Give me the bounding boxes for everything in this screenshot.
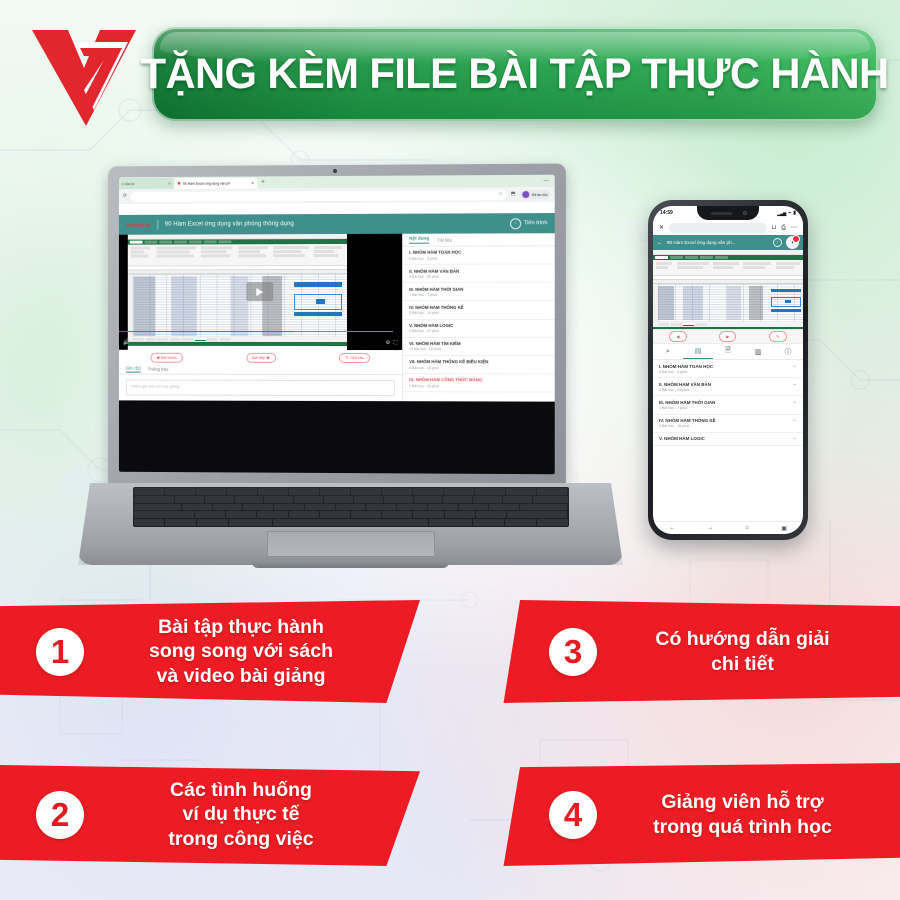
laptop-lid: n của tôi ✕ 90 Hàm Excel ứng dụng văn ph…: [108, 164, 566, 489]
chevron-down-icon[interactable]: ⌄: [792, 382, 797, 388]
content-tab[interactable]: ▤: [683, 344, 713, 359]
phone-app-bar: ← 90 Hàm Excel ứng dụng văn ph... ↑ ◗: [653, 235, 803, 250]
chevron-down-icon[interactable]: ⌄: [792, 400, 797, 406]
prev-icon: ◀: [156, 355, 159, 360]
section-title: III. NHÓM HÀM THỜI GIAN: [659, 400, 792, 405]
excel-ribbon: [128, 244, 347, 267]
section-meta: 8 Bài học - 25 phút: [409, 274, 548, 278]
menu-icon[interactable]: ⋯: [791, 225, 797, 231]
divider: [157, 220, 158, 230]
window-controls[interactable]: —: [544, 176, 555, 187]
list-item[interactable]: V. NHÓM HÀM LOGIC ⌄: [653, 433, 803, 447]
chevron-down-icon[interactable]: ⌄: [792, 418, 797, 424]
phone-mockup: 14:59 ▂▄▆ ⌁ ▮ ✕ ⊔ ⎙ ⋯ ← 90 Hàm Ex: [648, 200, 808, 540]
section-meta: 5 Bài học - 15 phút: [659, 424, 792, 428]
library-tab[interactable]: ▥: [743, 344, 773, 359]
avatar: [523, 191, 530, 198]
phone-screen: 14:59 ▂▄▆ ⌁ ▮ ✕ ⊔ ⎙ ⋯ ← 90 Hàm Ex: [653, 206, 803, 534]
phone-notch: [697, 206, 759, 220]
feature-card-3[interactable]: 3 Có hướng dẫn giải chi tiết: [487, 600, 900, 703]
keyboard: [133, 487, 569, 527]
section-meta: 1 Bài học - 7 phút: [409, 293, 548, 297]
prev-lesson-button[interactable]: ◀: [669, 331, 686, 342]
section-meta: 8 Bài học - 25 phút: [659, 388, 792, 392]
next-icon: ▶: [267, 355, 270, 360]
laptop-mockup: n của tôi ✕ 90 Hàm Excel ứng dụng văn ph…: [78, 165, 623, 590]
note-button[interactable]: ✎: [769, 331, 787, 342]
prev-lesson-button[interactable]: ◀ Bài trước: [150, 352, 183, 362]
list-item[interactable]: II. NHÓM HÀM VĂN BẢN 8 Bài học - 25 phút: [403, 265, 555, 284]
phone-section-list: I. NHÓM HÀM TOÁN HỌC 6 Bài học - 4 phút …: [653, 360, 803, 521]
app-header: TINHOCDAN 90 Hàm Excel ứng dụng văn phòn…: [119, 213, 555, 235]
nav-tabs-icon[interactable]: ▣: [781, 525, 787, 532]
title-banner: TẶNG KÈM FILE BÀI TẬP THỰC HÀNH: [152, 27, 878, 121]
card-text: Có hướng dẫn giải chi tiết: [597, 627, 900, 676]
note-label: Ghi chú: [350, 355, 364, 360]
favicon-icon: [177, 181, 181, 185]
play-icon: [256, 288, 263, 296]
section-title: V. NHÓM HÀM LOGIC: [409, 323, 548, 328]
close-icon[interactable]: ✕: [251, 180, 254, 185]
search-tab[interactable]: ⌕: [653, 344, 683, 359]
progress-control[interactable]: ↑ Tiến trình: [510, 218, 548, 229]
phone-browser-bar: ✕ ⊔ ⎙ ⋯: [653, 220, 803, 235]
document-tab[interactable]: 🗎: [713, 344, 743, 359]
tab-label: n của tôi: [122, 182, 135, 186]
video-progress-bar[interactable]: [119, 331, 294, 332]
card-number-badge: 2: [36, 791, 84, 839]
new-tab-button[interactable]: +: [257, 177, 268, 188]
lesson-pane: 🔊 ⚙ ⛶ ◀ Bài trước Bài tiếp ▶: [119, 234, 402, 401]
list-item[interactable]: III. NHÓM HÀM THỜI GIAN 1 Bài học - 7 ph…: [653, 396, 803, 414]
list-item[interactable]: I. NHÓM HÀM TOÁN HỌC 6 Bài học - 4 phút: [403, 246, 555, 265]
note-area: Thêm ghi chú cho bài giảng: [119, 375, 402, 402]
excel-screenshot: [128, 234, 347, 350]
tab-tai-lieu[interactable]: Tài liệu: [437, 237, 452, 242]
next-lesson-button[interactable]: Bài tiếp ▶: [246, 353, 276, 363]
progress-label: Tiến trình: [524, 220, 548, 226]
profile-label: Đã tạo dấu: [532, 192, 548, 196]
wifi-icon: ⌁: [788, 210, 791, 216]
info-tab[interactable]: ⓘ: [773, 344, 803, 359]
tab-label: 90 Hàm Excel ứng dụng văn ph: [183, 181, 230, 185]
card-number-badge: 3: [549, 628, 597, 676]
webcam-icon: [333, 169, 337, 173]
status-time: 14:59: [660, 210, 673, 216]
section-meta: 1 Bài học - 7 phút: [659, 406, 792, 410]
video-progress-remaining[interactable]: [294, 331, 394, 332]
card-text: Bài tập thực hành song song với sách và …: [84, 615, 420, 689]
phone-video-player[interactable]: [653, 250, 803, 330]
trackpad[interactable]: [267, 531, 435, 557]
section-meta: 2 Bài học - 15 phút: [409, 384, 548, 388]
settings-fullscreen-icon[interactable]: ⚙ ⛶: [386, 340, 398, 346]
volume-icon[interactable]: 🔊: [123, 339, 130, 346]
phone-lesson-buttons: ◀ ▶ ✎: [653, 330, 803, 344]
reload-icon[interactable]: ⟳: [123, 194, 127, 199]
list-item[interactable]: III. NHÓM HÀM THỜI GIAN 1 Bài học - 7 ph…: [403, 283, 555, 301]
browser-tab-strip: n của tôi ✕ 90 Hàm Excel ứng dụng văn ph…: [119, 175, 555, 189]
prev-label: Bài trước: [161, 355, 177, 360]
card-number-badge: 1: [36, 628, 84, 676]
note-button[interactable]: ✎ Ghi chú: [339, 353, 370, 363]
excel-status-bar: [128, 342, 347, 346]
list-item[interactable]: V. NHÓM HÀM LOGIC 6 Bài học - 27 phút: [403, 320, 555, 338]
lesson-button-bar: ◀ Bài trước Bài tiếp ▶ ✎ Ghi chú: [119, 350, 402, 366]
phone-address-bar[interactable]: [669, 223, 766, 233]
section-title: II. NHÓM HÀM VĂN BẢN: [409, 268, 548, 274]
course-title: 90 Hàm Excel ứng dụng văn phòng thông dụ…: [165, 221, 294, 227]
list-item[interactable]: IV. NHÓM HÀM THỐNG KÊ 5 Bài học - 19 phú…: [403, 301, 555, 319]
course-section-list: I. NHÓM HÀM TOÁN HỌC 6 Bài học - 4 phút …: [403, 246, 555, 401]
feature-card-2[interactable]: 2 Các tình huống ví dụ thực tế trong côn…: [0, 763, 420, 866]
devices-section: n của tôi ✕ 90 Hàm Excel ứng dụng văn ph…: [0, 140, 900, 590]
laptop-screen: n của tôi ✕ 90 Hàm Excel ứng dụng văn ph…: [119, 175, 555, 475]
excel-grid: [128, 270, 347, 346]
section-meta: 5 Bài học - 19 phút: [409, 311, 548, 315]
tab-ghi-chu[interactable]: Ghi chú: [126, 366, 141, 373]
section-title: I. NHÓM HÀM TOÁN HỌC: [409, 250, 548, 256]
card-number-badge: 4: [549, 791, 597, 839]
next-label: Bài tiếp: [252, 355, 265, 360]
signal-icon: ▂▄▆: [777, 211, 786, 216]
list-item[interactable]: I. NHÓM HÀM TOÁN HỌC 6 Bài học - 4 phút …: [653, 360, 803, 378]
nav-back-icon[interactable]: ←: [669, 525, 675, 531]
card-text: Giảng viên hỗ trợ trong quá trình học: [597, 790, 900, 839]
phone-frame: 14:59 ▂▄▆ ⌁ ▮ ✕ ⊔ ⎙ ⋯ ← 90 Hàm Ex: [648, 200, 808, 540]
list-item[interactable]: VI. NHÓM HÀM TÌM KIẾM 13 Bài học - 59 ph…: [403, 338, 555, 356]
play-button[interactable]: [246, 282, 273, 301]
back-icon[interactable]: ←: [657, 240, 663, 246]
laptop-front-edge: [252, 561, 448, 568]
card-text: Các tình huống ví dụ thực tế trong công …: [84, 778, 420, 852]
phone-nav-bar: ← → ⌂ ▣: [653, 521, 803, 534]
app-logo[interactable]: TINHOCDAN: [126, 222, 150, 227]
section-meta: 13 Bài học - 59 phút: [409, 348, 548, 352]
list-item[interactable]: VII. NHÓM HÀM THỐNG KÊ ĐIỀU KIỆN 6 Bài h…: [403, 356, 555, 374]
feature-card-1[interactable]: 1 Bài tập thực hành song song với sách v…: [0, 600, 420, 703]
section-title: V. NHÓM HÀM LOGIC: [659, 436, 792, 441]
excel-screenshot: [653, 250, 803, 329]
section-title: VII. NHÓM HÀM THỐNG KÊ ĐIỀU KIỆN: [409, 359, 548, 365]
browser-tab-inactive[interactable]: n của tôi ✕: [119, 178, 174, 189]
video-player[interactable]: 🔊 ⚙ ⛶: [119, 234, 402, 350]
battery-icon: ▮: [793, 210, 796, 216]
note-input[interactable]: Thêm ghi chú cho bài giảng: [126, 380, 395, 397]
chevron-down-icon[interactable]: ⌄: [792, 364, 797, 370]
address-bar[interactable]: ☆: [131, 190, 507, 202]
section-title: IV. NHÓM HÀM THỐNG KÊ: [659, 418, 792, 423]
section-title: IV. NHÓM HÀM THỐNG KÊ: [409, 305, 548, 310]
section-title: I. NHÓM HÀM TOÁN HỌC: [659, 364, 792, 369]
close-icon[interactable]: ✕: [168, 181, 171, 186]
laptop-base: [78, 483, 623, 565]
star-icon[interactable]: ☆: [498, 192, 503, 197]
tab-noi-dung[interactable]: Nội dung: [409, 236, 429, 244]
browser-tab-active[interactable]: 90 Hàm Excel ứng dụng văn ph ✕: [174, 177, 257, 188]
section-title: IX. NHÓM HÀM CÔNG THỨC MẢNG: [409, 378, 548, 384]
section-meta: 6 Bài học - 27 phút: [409, 329, 548, 333]
pencil-icon: ✎: [345, 355, 348, 360]
sidebar-tab-bar: Nội dung Tài liệu: [403, 233, 555, 247]
section-meta: 6 Bài học - 15 phút: [409, 366, 548, 370]
nav-home-icon[interactable]: ⌂: [745, 525, 749, 531]
section-meta: 6 Bài học - 4 phút: [659, 370, 792, 374]
bookmark-icon[interactable]: ⊔: [772, 225, 777, 231]
progress-icon: ↑: [510, 218, 521, 229]
app-body: 🔊 ⚙ ⛶ ◀ Bài trước Bài tiếp ▶: [119, 233, 555, 401]
extension-icon[interactable]: ⬒: [511, 192, 516, 197]
lesson-tab-bar: Ghi chú Thông báo: [119, 365, 402, 375]
tabs-icon[interactable]: ⎙: [781, 225, 786, 231]
course-sidebar: Nội dung Tài liệu I. NHÓM HÀM TOÁN HỌC 6…: [402, 233, 555, 401]
header: TẶNG KÈM FILE BÀI TẬP THỰC HÀNH: [0, 0, 900, 150]
list-item[interactable]: II. NHÓM HÀM VĂN BẢN 8 Bài học - 25 phút…: [653, 378, 803, 396]
badge-dot: [792, 235, 800, 243]
list-item[interactable]: IX. NHÓM HÀM CÔNG THỨC MẢNG 2 Bài học - …: [403, 374, 555, 393]
notification-button[interactable]: ◗: [786, 236, 799, 249]
section-meta: 6 Bài học - 4 phút: [409, 256, 548, 260]
v7-logo-icon: [28, 24, 140, 132]
section-title: II. NHÓM HÀM VĂN BẢN: [659, 382, 792, 387]
next-lesson-button[interactable]: ▶: [719, 331, 736, 342]
profile-chip[interactable]: Đã tạo dấu: [520, 190, 551, 199]
phone-tab-bar: ⌕ ▤ 🗎 ▥ ⓘ: [653, 344, 803, 360]
section-title: III. NHÓM HÀM THỜI GIAN: [409, 286, 548, 292]
chevron-down-icon[interactable]: ⌄: [792, 436, 797, 442]
feature-card-4[interactable]: 4 Giảng viên hỗ trợ trong quá trình học: [487, 763, 900, 866]
feature-cards: 1 Bài tập thực hành song song với sách v…: [0, 588, 900, 900]
list-item[interactable]: IV. NHÓM HÀM THỐNG KÊ 5 Bài học - 15 phú…: [653, 415, 803, 433]
tab-thong-bao[interactable]: Thông báo: [148, 367, 169, 372]
nav-forward-icon[interactable]: →: [707, 525, 713, 531]
section-title: VI. NHÓM HÀM TÌM KIẾM: [409, 341, 548, 346]
progress-icon[interactable]: ↑: [773, 238, 782, 247]
banner-title: TẶNG KÈM FILE BÀI TẬP THỰC HÀNH: [141, 50, 889, 99]
phone-course-title: 90 Hàm Excel ứng dụng văn ph...: [667, 240, 769, 245]
close-icon[interactable]: ✕: [659, 225, 664, 231]
